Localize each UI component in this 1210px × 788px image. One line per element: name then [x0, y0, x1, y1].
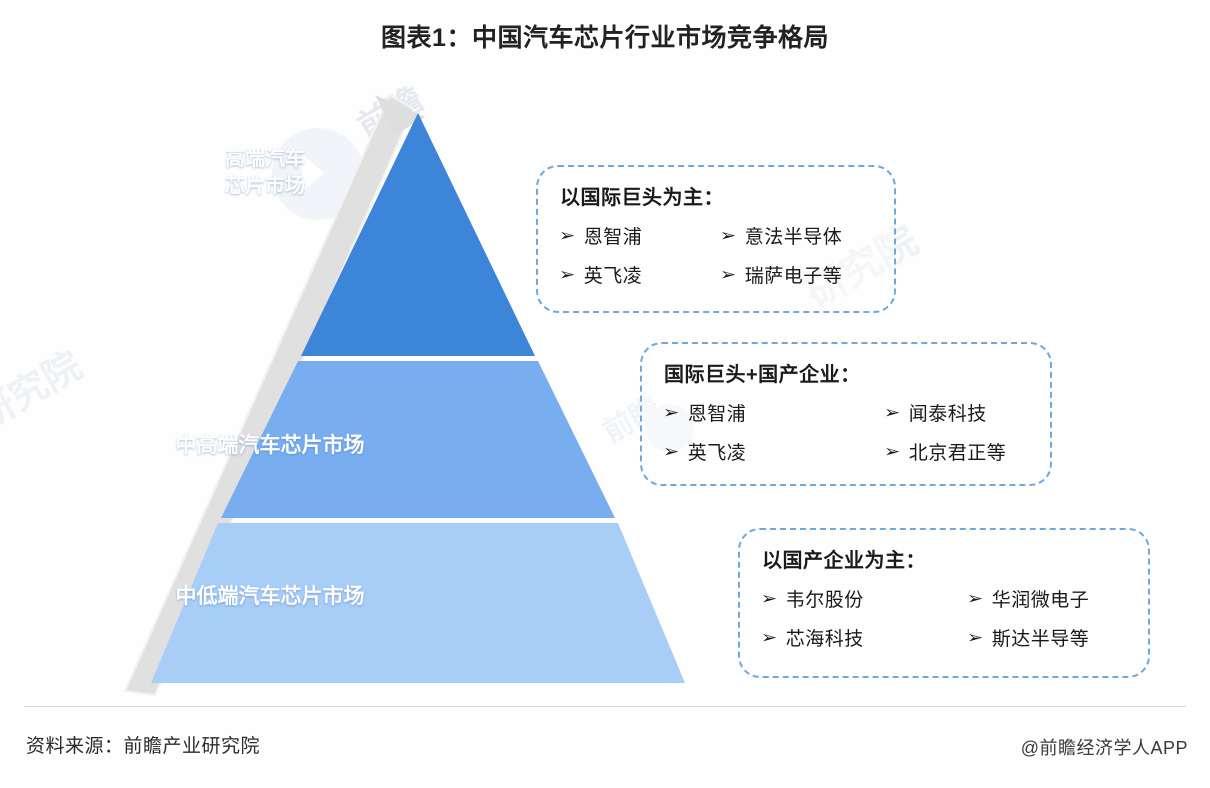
- bullet-arrow-icon: ➢: [884, 442, 901, 462]
- callout-item-list: ➢ 恩智浦 ➢ 意法半导体 ➢ 英飞凌 ➢ 瑞萨电子等: [560, 222, 876, 288]
- callout-list-item: ➢ 韦尔股份: [762, 585, 962, 612]
- callout-item-label: 斯达半导等: [992, 624, 1090, 651]
- bullet-arrow-icon: ➢: [967, 589, 984, 609]
- callout-title: 以国际巨头为主：: [560, 181, 876, 210]
- callout-item-label: 瑞萨电子等: [745, 261, 843, 288]
- callout-item-label: 韦尔股份: [786, 585, 864, 612]
- callout-item-label: 意法半导体: [745, 222, 843, 249]
- bullet-arrow-icon: ➢: [761, 589, 778, 609]
- callout-list-item: ➢ 恩智浦: [560, 222, 715, 249]
- pyramid-tier-high-end: [301, 113, 535, 356]
- infographic-canvas: 图表1：中国汽车芯片行业市场竞争格局 前瞻 研究院 研究院 前瞻 高端汽车 芯片…: [0, 0, 1210, 788]
- bullet-arrow-icon: ➢: [761, 628, 778, 648]
- callout-list-item: ➢ 芯海科技: [762, 624, 962, 651]
- pyramid-tier-mid-low-end: [151, 523, 685, 683]
- callout-item-label: 芯海科技: [786, 624, 864, 651]
- callout-list-item: ➢ 闻泰科技: [885, 399, 1032, 426]
- bullet-arrow-icon: ➢: [663, 403, 680, 423]
- pyramid-tier-mid-high-end: [221, 361, 615, 518]
- callout-item-list: ➢ 恩智浦 ➢ 闻泰科技 ➢ 英飞凌 ➢ 北京君正等: [664, 399, 1032, 465]
- bullet-arrow-icon: ➢: [884, 403, 901, 423]
- callout-list-item: ➢ 英飞凌: [664, 438, 879, 465]
- callout-mid-high-end-players: 国际巨头+国产企业： ➢ 恩智浦 ➢ 闻泰科技 ➢ 英飞凌 ➢ 北京君正等: [640, 342, 1052, 486]
- bullet-arrow-icon: ➢: [720, 265, 737, 285]
- callout-item-label: 北京君正等: [909, 438, 1007, 465]
- callout-list-item: ➢ 意法半导体: [721, 222, 876, 249]
- callout-item-label: 英飞凌: [688, 438, 747, 465]
- footer-divider: [24, 706, 1186, 707]
- callout-list-item: ➢ 瑞萨电子等: [721, 261, 876, 288]
- bullet-arrow-icon: ➢: [967, 628, 984, 648]
- attribution-label: @前瞻经济学人APP: [1021, 734, 1188, 760]
- bullet-arrow-icon: ➢: [720, 226, 737, 246]
- callout-item-label: 恩智浦: [688, 399, 747, 426]
- callout-list-item: ➢ 北京君正等: [885, 438, 1032, 465]
- source-note: 资料来源：前瞻产业研究院: [26, 731, 260, 758]
- callout-list-item: ➢ 英飞凌: [560, 261, 715, 288]
- callout-title: 国际巨头+国产企业：: [664, 358, 1032, 387]
- callout-list-item: ➢ 恩智浦: [664, 399, 879, 426]
- watermark-text-3: 研究院: [0, 335, 90, 440]
- callout-high-end-players: 以国际巨头为主： ➢ 恩智浦 ➢ 意法半导体 ➢ 英飞凌 ➢ 瑞萨电子等: [536, 165, 896, 313]
- bullet-arrow-icon: ➢: [559, 265, 576, 285]
- callout-title: 以国产企业为主：: [762, 544, 1130, 573]
- callout-item-label: 英飞凌: [584, 261, 643, 288]
- callout-list-item: ➢ 华润微电子: [968, 585, 1130, 612]
- callout-list-item: ➢ 斯达半导等: [968, 624, 1130, 651]
- callout-mid-low-end-players: 以国产企业为主： ➢ 韦尔股份 ➢ 华润微电子 ➢ 芯海科技 ➢ 斯达半导等: [738, 528, 1150, 678]
- callout-item-label: 闻泰科技: [909, 399, 987, 426]
- callout-item-list: ➢ 韦尔股份 ➢ 华润微电子 ➢ 芯海科技 ➢ 斯达半导等: [762, 585, 1130, 651]
- bullet-arrow-icon: ➢: [663, 442, 680, 462]
- page-title: 图表1：中国汽车芯片行业市场竞争格局: [0, 18, 1210, 54]
- callout-item-label: 恩智浦: [584, 222, 643, 249]
- callout-item-label: 华润微电子: [992, 585, 1090, 612]
- bullet-arrow-icon: ➢: [559, 226, 576, 246]
